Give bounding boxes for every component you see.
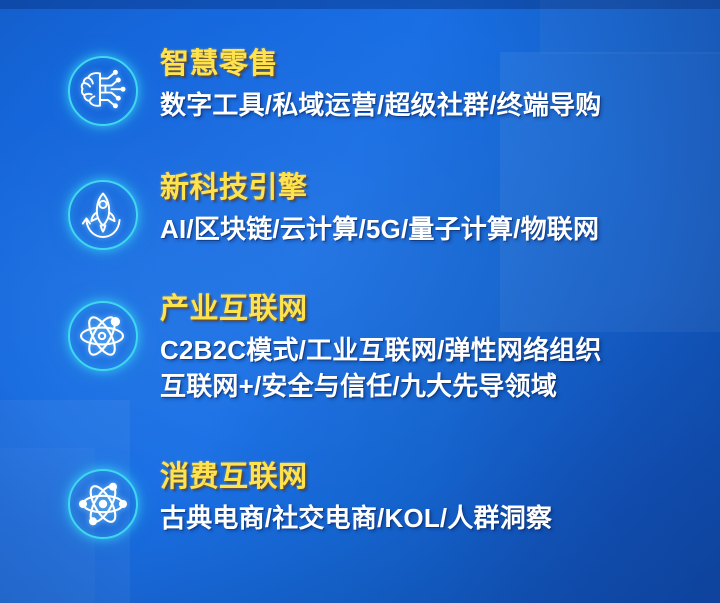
section-subline: 古典电商/社交电商/KOL/人群洞察 (160, 501, 552, 536)
section-icon-container (62, 295, 144, 377)
poster-canvas: 智慧零售 数字工具/私域运营/超级社群/终端导购 (0, 0, 720, 603)
section-item: 产业互联网 C2B2C模式/工业互联网/弹性网络组织 互联网+/安全与信任/九大… (62, 293, 602, 403)
brain-circuit-icon (68, 56, 138, 126)
atom-nucleus-icon (68, 469, 138, 539)
section-heading: 智慧零售 (160, 48, 601, 81)
section-subline: C2B2C模式/工业互联网/弹性网络组织 (160, 333, 602, 368)
section-heading: 消费互联网 (160, 461, 552, 494)
section-item: 新科技引擎 AI/区块链/云计算/5G/量子计算/物联网 (62, 172, 599, 256)
section-heading: 新科技引擎 (160, 172, 599, 205)
rocket-launch-icon (68, 180, 138, 250)
section-item: 消费互联网 古典电商/社交电商/KOL/人群洞察 (62, 461, 552, 545)
section-list: 智慧零售 数字工具/私域运营/超级社群/终端导购 (0, 0, 720, 603)
section-subline: 互联网+/安全与信任/九大先导领域 (160, 369, 602, 404)
section-text-block: 新科技引擎 AI/区块链/云计算/5G/量子计算/物联网 (144, 172, 599, 247)
section-heading: 产业互联网 (160, 293, 602, 326)
section-icon-container (62, 174, 144, 256)
section-text-block: 智慧零售 数字工具/私域运营/超级社群/终端导购 (144, 48, 601, 123)
section-text-block: 消费互联网 古典电商/社交电商/KOL/人群洞察 (144, 461, 552, 536)
section-subline: AI/区块链/云计算/5G/量子计算/物联网 (160, 212, 599, 247)
section-icon-container (62, 463, 144, 545)
section-subline: 数字工具/私域运营/超级社群/终端导购 (160, 88, 601, 123)
section-text-block: 产业互联网 C2B2C模式/工业互联网/弹性网络组织 互联网+/安全与信任/九大… (144, 293, 602, 403)
atom-orbit-icon (68, 301, 138, 371)
section-icon-container (62, 50, 144, 132)
section-item: 智慧零售 数字工具/私域运营/超级社群/终端导购 (62, 48, 601, 132)
